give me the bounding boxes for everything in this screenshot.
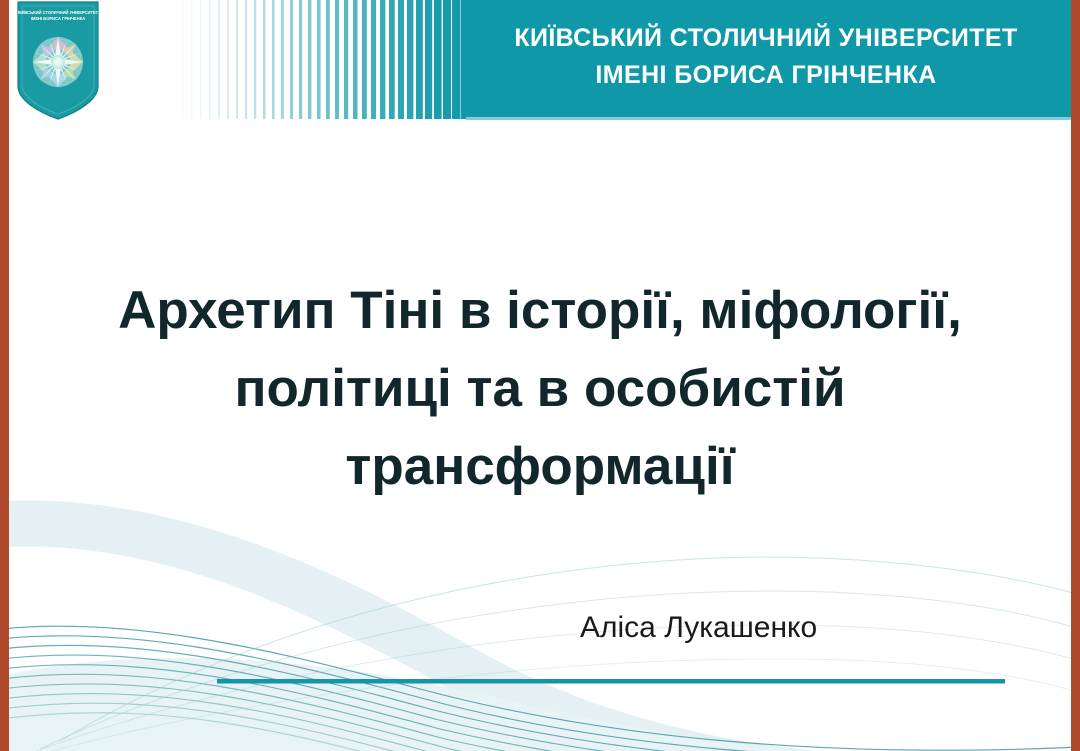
page-title: Архетип Тіні в історії, міфології, політ… <box>60 272 1020 506</box>
horizontal-rule <box>217 679 1005 684</box>
wave-svg <box>0 471 1080 751</box>
university-name: КИЇВСЬКИЙ СТОЛИЧНИЙ УНІВЕРСИТЕТ ІМЕНІ БО… <box>466 20 1066 94</box>
stripe-svg <box>180 0 467 119</box>
shield-logo-svg: КИЇВСЬКИЙ СТОЛИЧНИЙ УНІВЕРСИТЕТ ІМЕНІ БО… <box>14 0 102 122</box>
university-logo: КИЇВСЬКИЙ СТОЛИЧНИЙ УНІВЕРСИТЕТ ІМЕНІ БО… <box>14 0 102 122</box>
right-edge-border <box>1071 0 1080 751</box>
header-stripe-pattern <box>180 0 467 119</box>
author-name: Аліса Лукашенко <box>580 611 817 645</box>
shield-text-line1: КИЇВСЬКИЙ СТОЛИЧНИЙ УНІВЕРСИТЕТ <box>18 10 99 15</box>
emblem-rosette <box>33 37 83 87</box>
left-edge-border <box>0 0 9 751</box>
shield-text-line2: ІМЕНІ БОРИСА ГРІНЧЕНКА <box>31 16 85 21</box>
decorative-wave-graphic <box>0 471 1080 751</box>
presentation-title-slide: КИЇВСЬКИЙ СТОЛИЧНИЙ УНІВЕРСИТЕТ ІМЕНІ БО… <box>0 0 1080 751</box>
university-name-line2: ІМЕНІ БОРИСА ГРІНЧЕНКА <box>466 57 1066 94</box>
page-title-line1: Архетип Тіні в історії, міфології, <box>60 272 1020 350</box>
page-title-line3: трансформації <box>60 428 1020 506</box>
university-name-line1: КИЇВСЬКИЙ СТОЛИЧНИЙ УНІВЕРСИТЕТ <box>514 24 1017 52</box>
header-band: КИЇВСЬКИЙ СТОЛИЧНИЙ УНІВЕРСИТЕТ ІМЕНІ БО… <box>0 0 1080 119</box>
header-underline <box>466 117 1071 120</box>
page-title-line2: політиці та в особистій <box>60 350 1020 428</box>
